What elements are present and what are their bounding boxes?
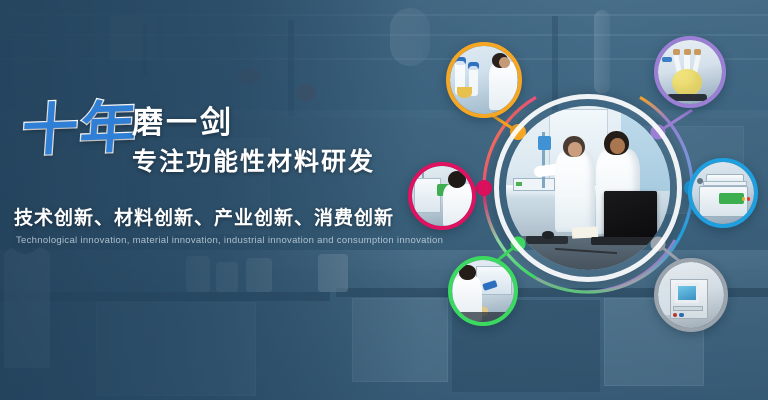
satellite-photo (452, 260, 514, 322)
satellite-photo (658, 40, 722, 104)
innovation-line-en: Technological innovation, material innov… (16, 234, 443, 248)
satellite-photo (658, 262, 724, 328)
headline-text-block: 十年 磨一剑 专注功能性材料研发 技术创新、材料创新、产业创新、消费创新 Tec… (14, 104, 394, 170)
satellite-photo (450, 46, 518, 114)
innovation-line-cn: 技术创新、材料创新、产业创新、消费创新 (14, 206, 394, 232)
headline-secondary: 磨一剑 (132, 104, 234, 142)
orbit-node-crimson (476, 180, 492, 196)
satellite-photo (692, 162, 754, 224)
satellite-photo (412, 166, 472, 226)
headline-calligraphy: 十年 (20, 96, 141, 162)
satellite-bench-top-laboratory-oven[interactable] (688, 158, 758, 228)
headline-row: 十年 磨一剑 专注功能性材料研发 (14, 104, 394, 170)
satellite-technician-at-testing-machine[interactable] (408, 162, 476, 230)
sub-headline: 专注功能性材料研发 (132, 146, 375, 178)
satellite-benchtop-analyzer-instrument[interactable] (654, 258, 728, 332)
photo-collage (396, 18, 768, 378)
background-left-shade (0, 0, 420, 400)
satellite-chemist-at-glassware-rig[interactable] (446, 42, 522, 118)
center-photo-circle[interactable] (494, 94, 682, 282)
satellite-researcher-at-fume-hood[interactable] (448, 256, 518, 326)
center-white-ring (494, 94, 682, 282)
satellite-reaction-flask-yellow-liquid[interactable] (654, 36, 726, 108)
promo-banner: 十年 磨一剑 专注功能性材料研发 技术创新、材料创新、产业创新、消费创新 Tec… (0, 0, 768, 400)
